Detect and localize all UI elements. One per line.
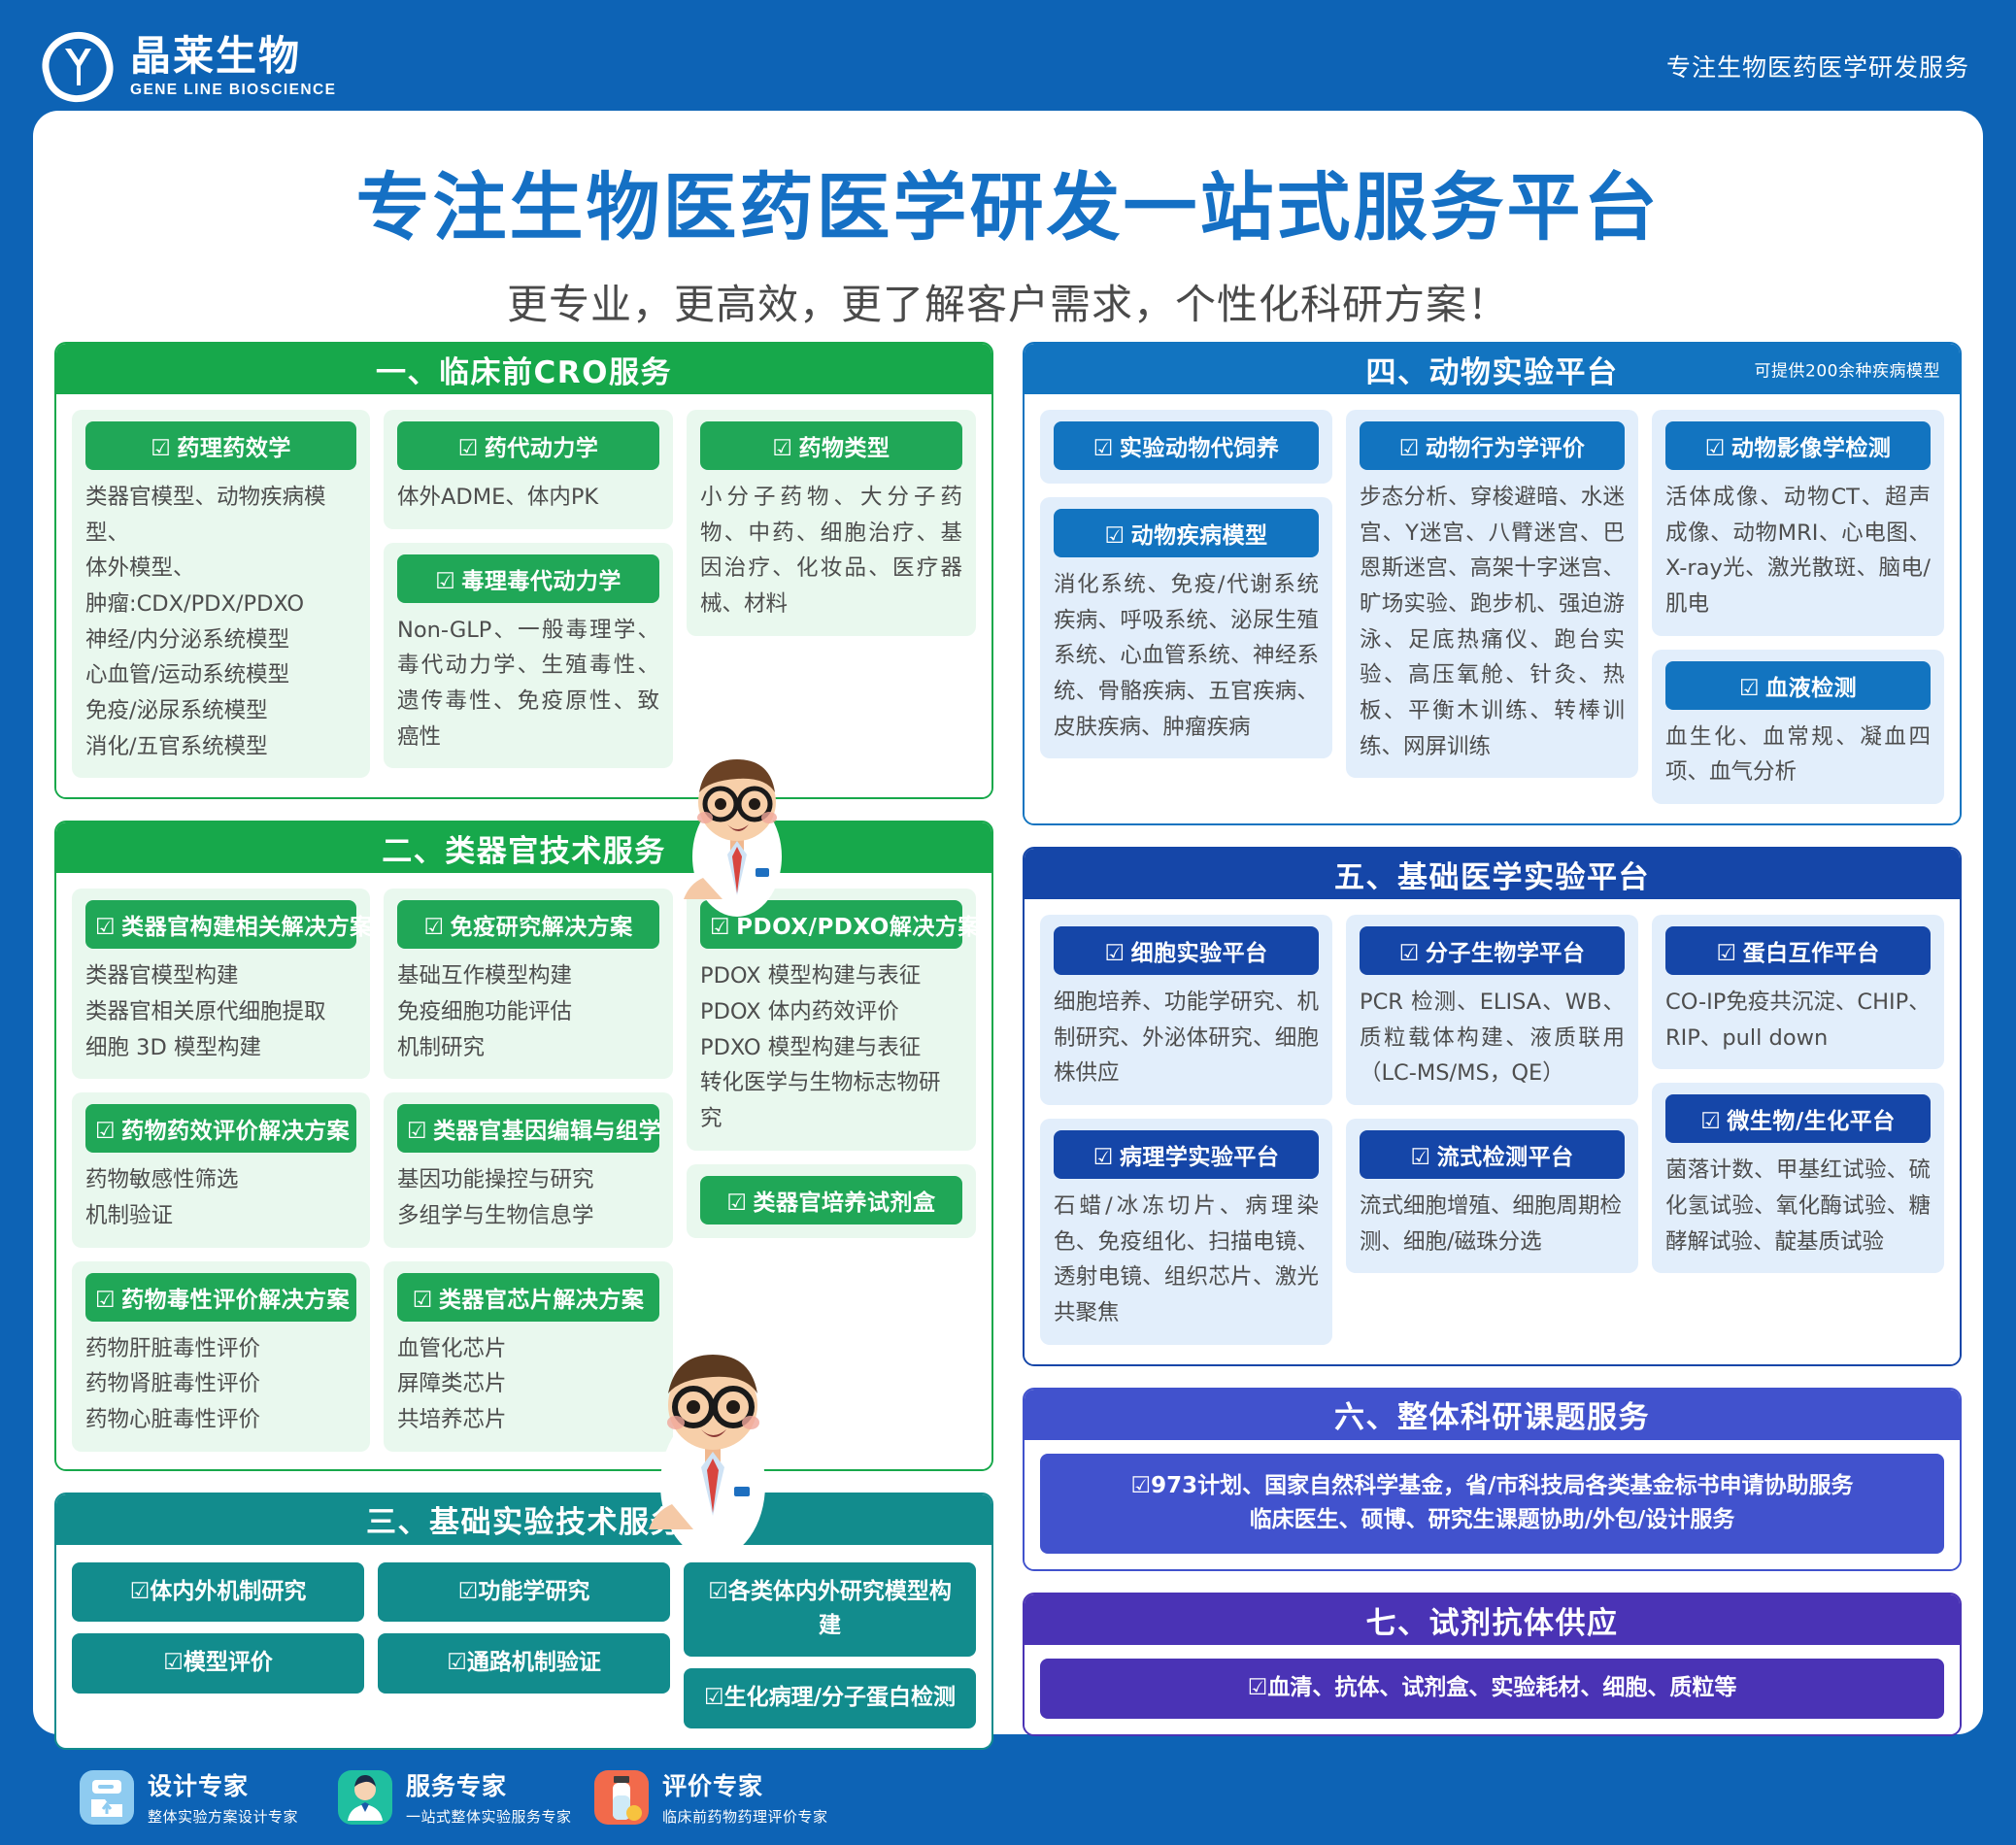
list-item: 基础互作模型构建 [397, 958, 659, 994]
list-item: 屏障类芯片 [397, 1366, 659, 1402]
service-expert-icon [338, 1770, 392, 1825]
section-2-header: 二、类器官技术服务 [56, 822, 991, 873]
card-molecular-platform[interactable]: ☑分子生物学平台 PCR 检测、ELISA、WB、质粒载体构建、液质联用（LC-… [1346, 915, 1638, 1105]
chip-pathway-validation[interactable]: ☑通路机制验证 [378, 1633, 670, 1694]
card-organ-chip[interactable]: ☑类器官芯片解决方案 血管化芯片 屏障类芯片 共培养芯片 [384, 1261, 673, 1452]
section-1-title: 一、临床前CRO服务 [376, 348, 672, 391]
list-item: 类器官模型构建 [85, 958, 356, 994]
check-icon: ☑ [1739, 676, 1760, 701]
check-icon: ☑ [708, 1579, 728, 1604]
chip-invivo-invitro-mechanism[interactable]: ☑体内外机制研究 [72, 1562, 364, 1623]
section-2-title: 二、类器官技术服务 [382, 826, 666, 870]
list-item: 药物心脏毒性评价 [85, 1402, 356, 1438]
check-icon: ☑ [704, 1685, 724, 1710]
card-gene-editing[interactable]: ☑类器官基因编辑与组学 基因功能操控与研究 多组学与生物信息学 [384, 1092, 673, 1247]
check-icon: ☑ [435, 569, 455, 594]
research-funding-line-2: 临床医生、硕博、研究生课题协助/外包/设计服务 [1059, 1503, 1925, 1538]
list-item: 类器官模型、动物疾病模型、 [85, 480, 356, 551]
chip-functional-research[interactable]: ☑功能学研究 [378, 1562, 670, 1623]
page-subtitle: 更专业，更高效，更了解客户需求，个性化科研方案！ [33, 272, 1983, 331]
check-icon: ☑ [710, 915, 730, 940]
design-expert-icon [80, 1770, 134, 1825]
footer-title: 设计专家 [148, 1767, 298, 1802]
card-blood-test[interactable]: ☑血液检测 血生化、血常规、凝血四项、血气分析 [1652, 650, 1944, 804]
poster-page: 晶莱生物 GENE LINE BIOSCIENCE 专注生物医药医学研发服务 专… [0, 0, 2016, 1845]
list-item: 心血管/运动系统模型 [85, 657, 356, 693]
card-animal-disease-model[interactable]: ☑动物疾病模型 消化系统、免疫/代谢系统疾病、呼吸系统、泌尿生殖系统、心血管系统… [1040, 497, 1332, 758]
section-animal-platform: 四、动物实验平台 可提供200余种疾病模型 ☑实验动物代饲养 [1023, 342, 1962, 825]
header-slogan: 专注生物医药医学研发服务 [1666, 49, 1969, 84]
list-item: 体外模型、 [85, 551, 356, 587]
chip-immune-research[interactable]: ☑免疫研究解决方案 [397, 900, 659, 949]
check-icon: ☑ [413, 1288, 433, 1313]
flow-cytometry-text: 流式细胞增殖、细胞周期检测、细胞/磁珠分选 [1360, 1189, 1625, 1259]
chip-efficacy-eval[interactable]: ☑药物药效评价解决方案 [85, 1104, 356, 1153]
check-icon: ☑ [1705, 436, 1726, 461]
brand-name-cn: 晶莱生物 [130, 35, 336, 78]
chip-drug-types[interactable]: ☑药物类型 [700, 421, 962, 470]
pharmacology-lines: 类器官模型、动物疾病模型、 体外模型、 肿瘤:CDX/PDX/PDXO 神经/内… [85, 480, 356, 764]
card-animal-imaging[interactable]: ☑动物影像学检测 活体成像、动物CT、超声成像、动物MRI、心电图、X-ray光… [1652, 410, 1944, 636]
section-5-header: 五、基础医学实验平台 [1025, 849, 1960, 899]
main-card: 专注生物医药医学研发一站式服务平台 更专业，更高效，更了解客户需求，个性化科研方… [33, 111, 1983, 1734]
chip-animal-housing[interactable]: ☑实验动物代饲养 [1054, 421, 1319, 470]
chip-toxicity-eval[interactable]: ☑药物毒性评价解决方案 [85, 1273, 356, 1322]
check-icon: ☑ [1104, 523, 1125, 549]
page-title: 专注生物医药医学研发一站式服务平台 [33, 148, 1983, 254]
content-columns: 一、临床前CRO服务 ☑药理药效学 类器官模型、动物疾病模型、 体外模型、 [54, 342, 1962, 1771]
check-icon: ☑ [1104, 941, 1125, 966]
brand-logo: 晶莱生物 GENE LINE BIOSCIENCE [43, 32, 336, 102]
chip-protein-interaction-platform[interactable]: ☑蛋白互作平台 [1665, 926, 1931, 975]
footer-item-evaluation-expert: 评价专家 临床前药物药理评价专家 [594, 1767, 828, 1827]
check-icon: ☑ [1093, 436, 1114, 461]
evaluation-expert-icon [594, 1770, 649, 1825]
check-icon: ☑ [95, 1119, 116, 1144]
section-7-header: 七、试剂抗体供应 [1025, 1594, 1960, 1645]
section-3-header: 三、基础实验技术服务 [56, 1494, 991, 1545]
footer-title: 服务专家 [406, 1767, 572, 1802]
footer-subtitle: 临床前药物药理评价专家 [662, 1806, 828, 1827]
check-icon: ☑ [1399, 941, 1420, 966]
right-column: 四、动物实验平台 可提供200余种疾病模型 ☑实验动物代饲养 [1023, 342, 1962, 1771]
list-item: 免疫/泌尿系统模型 [85, 693, 356, 729]
section-6-title: 六、整体科研课题服务 [1334, 1392, 1650, 1436]
chip-gene-editing[interactable]: ☑类器官基因编辑与组学 [397, 1104, 659, 1153]
list-item: 血管化芯片 [397, 1331, 659, 1367]
chip-pharmacokinetics[interactable]: ☑药代动力学 [397, 421, 659, 470]
list-item: 药物敏感性筛选 [85, 1162, 356, 1198]
card-toxicity-eval[interactable]: ☑药物毒性评价解决方案 药物肝脏毒性评价 药物肾脏毒性评价 药物心脏毒性评价 [72, 1261, 370, 1452]
chip-model-construction[interactable]: ☑各类体内外研究模型构建 [684, 1562, 976, 1657]
card-cell-platform[interactable]: ☑细胞实验平台 细胞培养、功能学研究、机制研究、外泌体研究、细胞株供应 [1040, 915, 1332, 1105]
chip-microbiology-platform[interactable]: ☑微生物/生化平台 [1665, 1094, 1931, 1143]
chip-reagent-supply[interactable]: ☑血清、抗体、试剂盒、实验耗材、细胞、质粒等 [1040, 1659, 1944, 1719]
footer-subtitle: 整体实验方案设计专家 [148, 1806, 298, 1827]
check-icon: ☑ [1410, 1145, 1430, 1170]
section-preclinical-cro: 一、临床前CRO服务 ☑药理药效学 类器官模型、动物疾病模型、 体外模型、 [54, 342, 993, 799]
list-item: 共培养芯片 [397, 1402, 659, 1438]
check-icon: ☑ [1716, 941, 1736, 966]
molecular-platform-text: PCR 检测、ELISA、WB、质粒载体构建、液质联用（LC-MS/MS，QE） [1360, 985, 1625, 1091]
card-toxicokinetics[interactable]: ☑毒理毒代动力学 Non-GLP、一般毒理学、毒代动力学、生殖毒性、遗传毒性、免… [384, 543, 673, 769]
card-flow-cytometry-platform[interactable]: ☑流式检测平台 流式细胞增殖、细胞周期检测、细胞/磁珠分选 [1346, 1119, 1638, 1273]
section-1-header: 一、临床前CRO服务 [56, 344, 991, 394]
card-immune-research[interactable]: ☑免疫研究解决方案 基础互作模型构建 免疫细胞功能评估 机制研究 [384, 889, 673, 1079]
list-item: 肿瘤:CDX/PDX/PDXO [85, 587, 356, 622]
footer-item-design-expert: 设计专家 整体实验方案设计专家 [80, 1767, 298, 1827]
card-organoid-construction[interactable]: ☑类器官构建相关解决方案 类器官模型构建 类器官相关原代细胞提取 细胞 3D 模… [72, 889, 370, 1079]
check-icon: ☑ [447, 1650, 467, 1675]
list-item: 机制验证 [85, 1198, 356, 1234]
brand-name-en: GENE LINE BIOSCIENCE [130, 82, 336, 99]
list-item: PDOX 模型构建与表征 [700, 958, 962, 994]
check-icon: ☑ [151, 436, 171, 461]
check-icon: ☑ [772, 436, 792, 461]
microbiology-text: 菌落计数、甲基红试验、硫化氢试验、氧化酶试验、糖酵解试验、靛基质试验 [1665, 1153, 1931, 1259]
y-glyph-icon [64, 47, 91, 87]
animal-disease-model-text: 消化系统、免疫/代谢系统疾病、呼吸系统、泌尿生殖系统、心血管系统、神经系统、骨骼… [1054, 567, 1319, 745]
chip-blood-test[interactable]: ☑血液检测 [1665, 661, 1931, 710]
card-animal-behavior[interactable]: ☑动物行为学评价 步态分析、穿梭避暗、水迷宫、Y迷宫、八臂迷宫、巴恩斯迷宫、高架… [1346, 410, 1638, 778]
chip-animal-imaging[interactable]: ☑动物影像学检测 [1665, 421, 1931, 470]
footer-subtitle: 一站式整体实验服务专家 [406, 1806, 572, 1827]
list-item: 神经/内分泌系统模型 [85, 622, 356, 658]
section-7-title: 七、试剂抗体供应 [1366, 1598, 1619, 1642]
left-column: 一、临床前CRO服务 ☑药理药效学 类器官模型、动物疾病模型、 体外模型、 [54, 342, 993, 1771]
list-item: 机制研究 [397, 1030, 659, 1066]
drug-types-text: 小分子药物、大分子药物、中药、细胞治疗、基因治疗、化妆品、医疗器械、材料 [700, 480, 962, 622]
card-pdox-pdxo[interactable]: ☑PDOX/PDXO解决方案 PDOX 模型构建与表征 PDOX 体内药效评价 … [687, 889, 976, 1150]
research-funding-line-1: ☑973计划、国家自然科学基金，省/市科技局各类基金标书申请协助服务 [1059, 1469, 1925, 1504]
section-3-title: 三、基础实验技术服务 [366, 1497, 682, 1541]
card-microbiology-platform[interactable]: ☑微生物/生化平台 菌落计数、甲基红试验、硫化氢试验、氧化酶试验、糖酵解试验、靛… [1652, 1083, 1944, 1273]
section-6-header: 六、整体科研课题服务 [1025, 1390, 1960, 1440]
check-icon: ☑ [1130, 1473, 1151, 1498]
chip-animal-behavior[interactable]: ☑动物行为学评价 [1360, 421, 1625, 470]
check-icon: ☑ [95, 1288, 116, 1313]
section-basic-medical-platform: 五、基础医学实验平台 ☑细胞实验平台 细胞培养、功能学研究、机制研究、外泌体研究… [1023, 847, 1962, 1366]
section-overall-research-service: 六、整体科研课题服务 ☑973计划、国家自然科学基金，省/市科技局各类基金标书申… [1023, 1388, 1962, 1571]
cell-platform-text: 细胞培养、功能学研究、机制研究、外泌体研究、细胞株供应 [1054, 985, 1319, 1091]
footer: 设计专家 整体实验方案设计专家 服务专家 一站式整体实验服务专家 评价专家 临床… [0, 1750, 2016, 1845]
check-icon: ☑ [458, 436, 479, 461]
footer-item-service-expert: 服务专家 一站式整体实验服务专家 [338, 1767, 572, 1827]
check-icon: ☑ [407, 1119, 427, 1144]
chip-organoid-kit[interactable]: ☑类器官培养试剂盒 [700, 1176, 962, 1224]
list-item: 免疫细胞功能评估 [397, 994, 659, 1030]
card-drug-types[interactable]: ☑药物类型 小分子药物、大分子药物、中药、细胞治疗、基因治疗、化妆品、医疗器械、… [687, 410, 976, 636]
card-pathology-platform[interactable]: ☑病理学实验平台 石蜡/冰冻切片、病理染色、免疫组化、扫描电镜、透射电镜、组织芯… [1040, 1119, 1332, 1345]
chip-research-funding-service[interactable]: ☑973计划、国家自然科学基金，省/市科技局各类基金标书申请协助服务 临床医生、… [1040, 1454, 1944, 1554]
protein-interaction-text: CO-IP免疫共沉淀、CHIP、RIP、pull down [1665, 985, 1931, 1056]
card-protein-interaction-platform[interactable]: ☑蛋白互作平台 CO-IP免疫共沉淀、CHIP、RIP、pull down [1652, 915, 1944, 1069]
check-icon: ☑ [1093, 1145, 1114, 1170]
check-icon: ☑ [458, 1579, 479, 1604]
check-icon: ☑ [726, 1191, 747, 1216]
chip-organ-chip[interactable]: ☑类器官芯片解决方案 [397, 1273, 659, 1322]
check-icon: ☑ [95, 915, 116, 940]
section-4-note: 可提供200余种疾病模型 [1755, 357, 1940, 382]
pharmacokinetics-text: 体外ADME、体内PK [397, 480, 659, 516]
chip-flow-cytometry-platform[interactable]: ☑流式检测平台 [1360, 1130, 1625, 1179]
chip-cell-platform[interactable]: ☑细胞实验平台 [1054, 926, 1319, 975]
check-icon: ☑ [1399, 436, 1420, 461]
toxicokinetics-text: Non-GLP、一般毒理学、毒代动力学、生殖毒性、遗传毒性、免疫原性、致癌性 [397, 613, 659, 755]
section-5-title: 五、基础医学实验平台 [1334, 853, 1650, 896]
chip-animal-disease-model[interactable]: ☑动物疾病模型 [1054, 509, 1319, 557]
card-organoid-kit[interactable]: ☑类器官培养试剂盒 [687, 1164, 976, 1238]
footer-title: 评价专家 [662, 1767, 828, 1802]
chip-biochem-pathology[interactable]: ☑生化病理/分子蛋白检测 [684, 1668, 976, 1728]
check-icon: ☑ [1248, 1675, 1268, 1700]
chip-toxicokinetics[interactable]: ☑毒理毒代动力学 [397, 554, 659, 603]
check-icon: ☑ [130, 1579, 151, 1604]
list-item: 基因功能操控与研究 [397, 1162, 659, 1198]
list-item: 细胞 3D 模型构建 [85, 1030, 356, 1066]
section-4-title: 四、动物实验平台 [1366, 348, 1619, 391]
blood-test-text: 血生化、血常规、凝血四项、血气分析 [1665, 720, 1931, 790]
animal-behavior-text: 步态分析、穿梭避暗、水迷宫、Y迷宫、八臂迷宫、巴恩斯迷宫、高架十字迷宫、旷场实验… [1360, 480, 1625, 764]
list-item: 转化医学与生物标志物研究 [700, 1065, 962, 1136]
list-item: 药物肾脏毒性评价 [85, 1366, 356, 1402]
gene-line-logo-icon [43, 32, 113, 102]
section-reagent-antibody-supply: 七、试剂抗体供应 ☑血清、抗体、试剂盒、实验耗材、细胞、质粒等 [1023, 1593, 1962, 1736]
list-item: PDOX 体内药效评价 [700, 994, 962, 1030]
chip-pharmacology[interactable]: ☑药理药效学 [85, 421, 356, 470]
list-item: 消化/五官系统模型 [85, 729, 356, 765]
list-item: 药物肝脏毒性评价 [85, 1331, 356, 1367]
list-item: 类器官相关原代细胞提取 [85, 994, 356, 1030]
check-icon: ☑ [423, 915, 444, 940]
card-efficacy-eval[interactable]: ☑药物药效评价解决方案 药物敏感性筛选 机制验证 [72, 1092, 370, 1247]
chip-pdox-pdxo[interactable]: ☑PDOX/PDXO解决方案 [700, 900, 962, 949]
check-icon: ☑ [1700, 1109, 1721, 1134]
card-pharmacokinetics[interactable]: ☑药代动力学 体外ADME、体内PK [384, 410, 673, 529]
check-icon: ☑ [163, 1650, 184, 1675]
chip-organoid-construction[interactable]: ☑类器官构建相关解决方案 [85, 900, 356, 949]
section-4-header: 四、动物实验平台 可提供200余种疾病模型 [1025, 344, 1960, 394]
list-item: 多组学与生物信息学 [397, 1198, 659, 1234]
chip-molecular-platform[interactable]: ☑分子生物学平台 [1360, 926, 1625, 975]
chip-pathology-platform[interactable]: ☑病理学实验平台 [1054, 1130, 1319, 1179]
chip-model-evaluation[interactable]: ☑模型评价 [72, 1633, 364, 1694]
section-organoid-tech: 二、类器官技术服务 ☑类器官构建相关解决方案 类器官模型构建 类器官相关原代细胞… [54, 821, 993, 1470]
list-item: PDXO 模型构建与表征 [700, 1030, 962, 1066]
card-pharmacology[interactable]: ☑药理药效学 类器官模型、动物疾病模型、 体外模型、 肿瘤:CDX/PDX/PD… [72, 410, 370, 778]
pathology-platform-text: 石蜡/冰冻切片、病理染色、免疫组化、扫描电镜、透射电镜、组织芯片、激光共聚焦 [1054, 1189, 1319, 1331]
section-basic-experiment-tech: 三、基础实验技术服务 ☑体内外机制研究 ☑模型评价 [54, 1493, 993, 1750]
card-animal-housing[interactable]: ☑实验动物代饲养 [1040, 410, 1332, 484]
animal-imaging-text: 活体成像、动物CT、超声成像、动物MRI、心电图、X-ray光、激光散斑、脑电/… [1665, 480, 1931, 622]
